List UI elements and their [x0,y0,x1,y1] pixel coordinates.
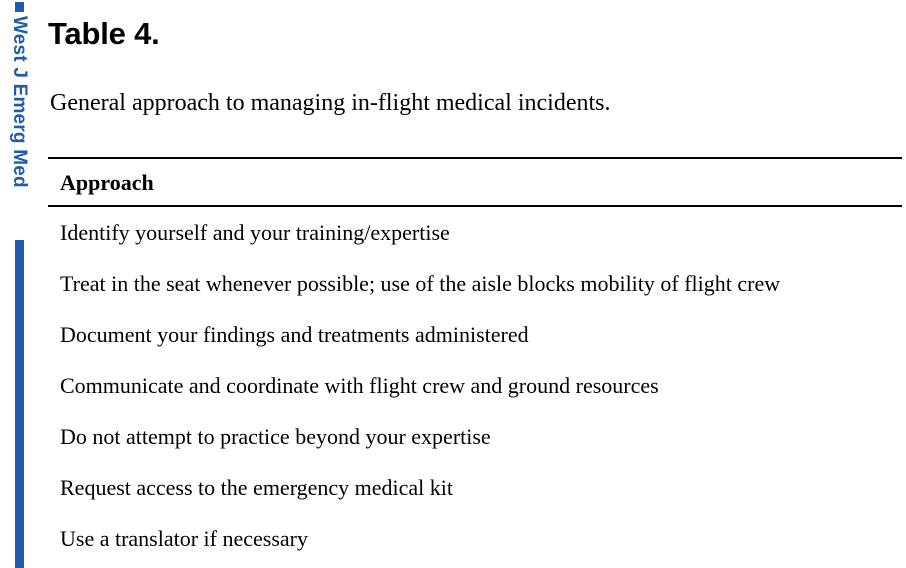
spine-tick-mark [15,2,24,12]
journal-spine: West J Emerg Med [0,0,46,568]
table-row: Treat in the seat whenever possible; use… [48,258,902,309]
table-column-header-approach: Approach [48,159,902,205]
table-body: Identify yourself and your training/expe… [48,207,902,564]
table-row: Communicate and coordinate with flight c… [48,360,902,411]
spine-vertical-rule [15,240,24,568]
table-row: Identify yourself and your training/expe… [48,207,902,258]
table-caption: General approach to managing in-flight m… [50,90,610,117]
table-row: Use a translator if necessary [48,513,902,564]
table-row: Document your findings and treatments ad… [48,309,902,360]
table-row: Do not attempt to practice beyond your e… [48,411,902,462]
approach-table: Approach Identify yourself and your trai… [48,157,902,564]
journal-name-label: West J Emerg Med [15,16,24,228]
table-figure-page: West J Emerg Med Table 4. General approa… [0,0,906,568]
figure-content: Table 4. General approach to managing in… [48,0,906,568]
table-number-heading: Table 4. [48,16,160,52]
table-row: Request access to the emergency medical … [48,462,902,513]
